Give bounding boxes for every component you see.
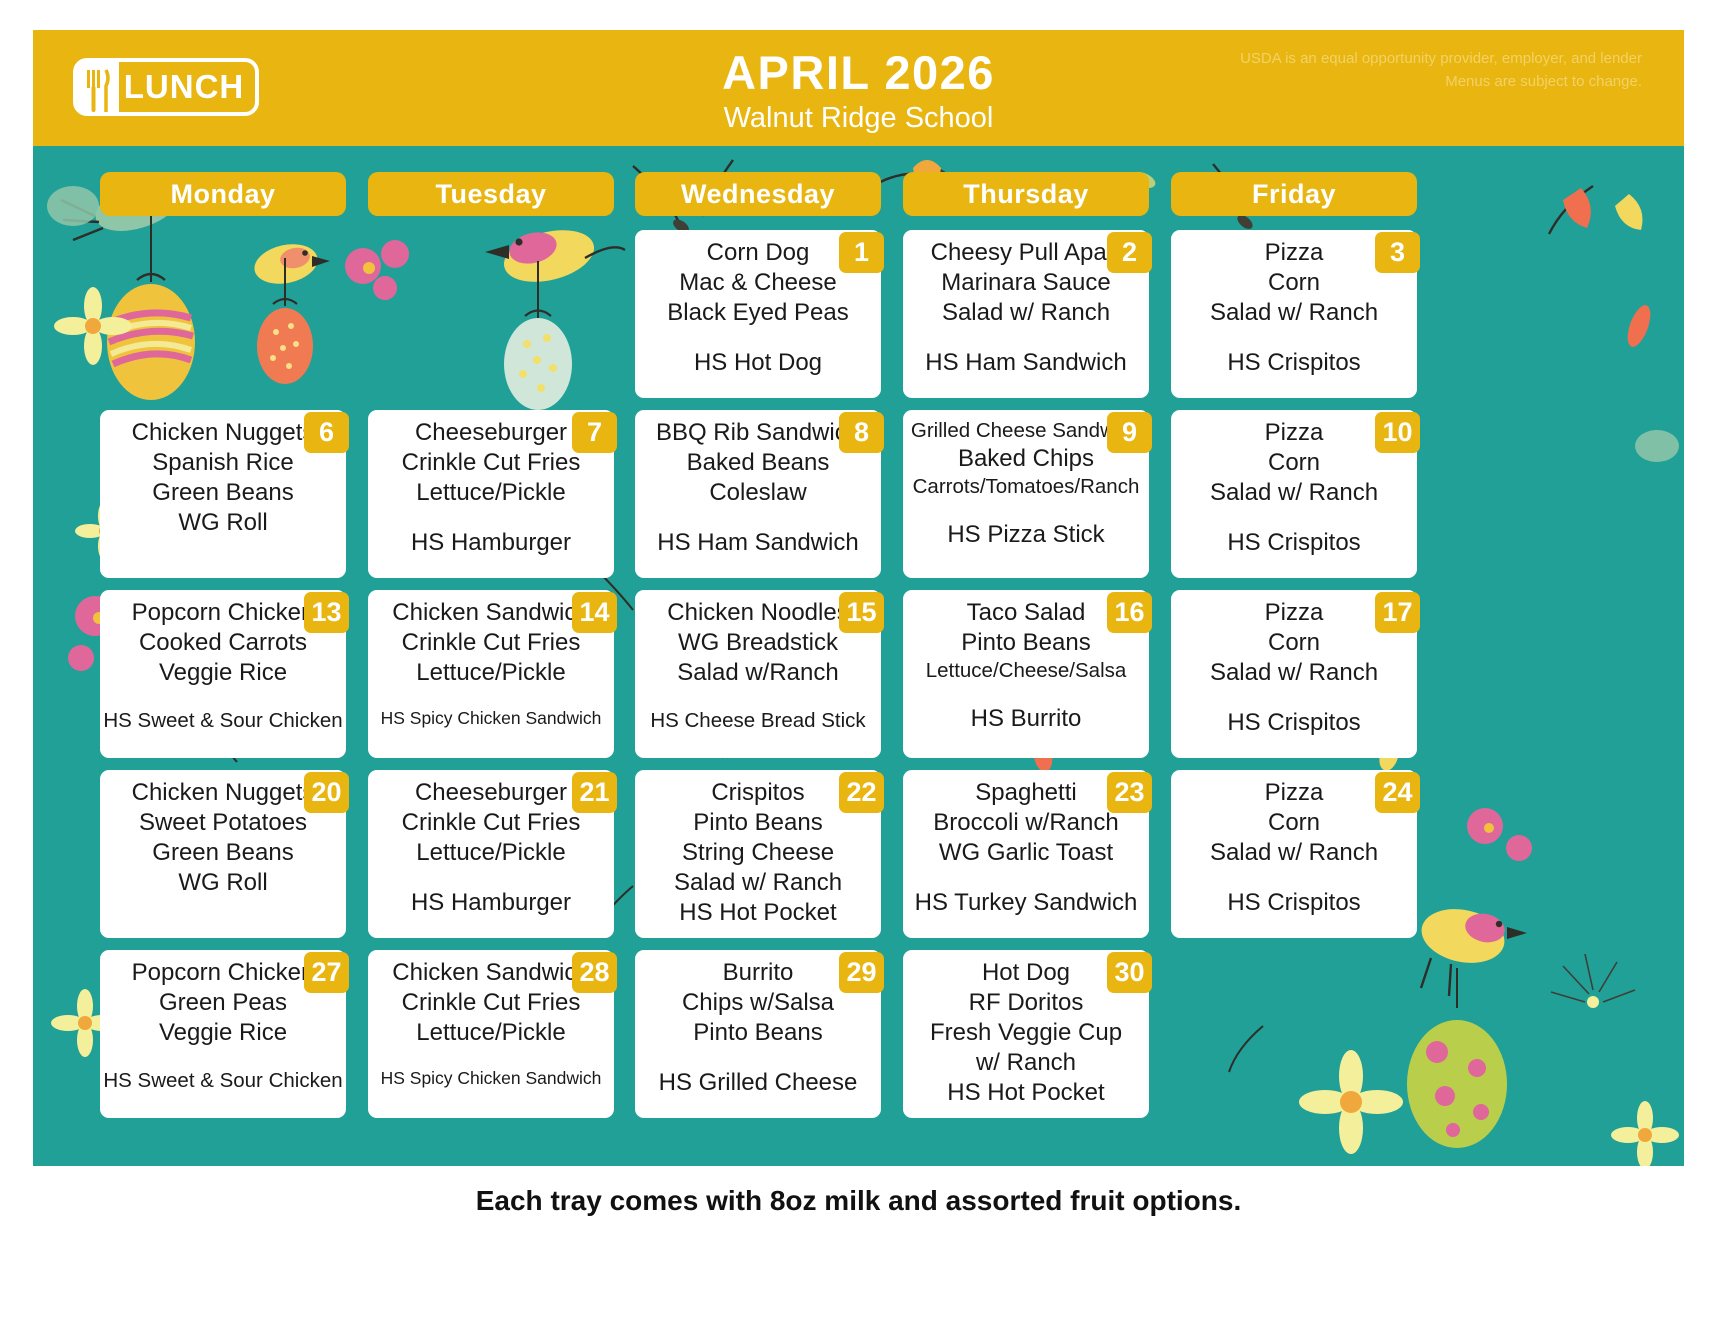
menu-item: Salad w/ Ranch <box>1157 298 1431 328</box>
menu-item: Lettuce/Cheese/Salsa <box>889 658 1163 684</box>
menu-spacer <box>889 500 1163 520</box>
menu-item: HS Sweet & Sour Chicken <box>86 708 360 734</box>
day-header-wednesday: Wednesday <box>635 172 881 216</box>
date-badge: 3 <box>1375 232 1420 273</box>
date-badge: 15 <box>839 592 884 633</box>
menu-item: HS Crispitos <box>1157 348 1431 378</box>
menu-item: Lettuce/Pickle <box>354 838 628 868</box>
menu-item: HS Crispitos <box>1157 888 1431 918</box>
menu-item: HS Spicy Chicken Sandwich <box>354 1068 628 1090</box>
menu-item: Salad w/ Ranch <box>1157 478 1431 508</box>
menu-item: HS Hamburger <box>354 888 628 918</box>
date-badge: 13 <box>304 592 349 633</box>
menu-item: HS Hot Pocket <box>621 898 895 928</box>
menu-item: String Cheese <box>621 838 895 868</box>
menu-spacer <box>86 1048 360 1068</box>
menu-item: HS Turkey Sandwich <box>889 888 1163 918</box>
calendar-grid: MondayTuesdayWednesdayThursdayFridayCorn… <box>33 146 1684 1166</box>
menu-item: Green Beans <box>86 478 360 508</box>
date-badge: 30 <box>1107 952 1152 993</box>
menu-item: Coleslaw <box>621 478 895 508</box>
usda-line-1: USDA is an equal opportunity provider, e… <box>1240 48 1642 71</box>
menu-item: HS Crispitos <box>1157 528 1431 558</box>
lunch-badge: LUNCH <box>73 58 259 116</box>
day-header-thursday: Thursday <box>903 172 1149 216</box>
page-header: LUNCH APRIL 2026 Walnut Ridge School USD… <box>33 30 1684 146</box>
menu-item: HS Crispitos <box>1157 708 1431 738</box>
menu-item: Carrots/Tomatoes/Ranch <box>889 474 1163 500</box>
menu-item: Salad w/ Ranch <box>1157 658 1431 688</box>
menu-item: WG Garlic Toast <box>889 838 1163 868</box>
menu-item: Pinto Beans <box>621 1018 895 1048</box>
lunch-menu-page: LUNCH APRIL 2026 Walnut Ridge School USD… <box>0 0 1717 1326</box>
menu-spacer <box>621 1048 895 1068</box>
menu-spacer <box>354 508 628 528</box>
menu-spacer <box>889 328 1163 348</box>
date-badge: 6 <box>304 412 349 453</box>
footer-note: Each tray comes with 8oz milk and assort… <box>0 1185 1717 1217</box>
date-badge: 22 <box>839 772 884 813</box>
menu-item: w/ Ranch <box>889 1048 1163 1078</box>
day-header-monday: Monday <box>100 172 346 216</box>
menu-spacer <box>354 688 628 708</box>
menu-item: HS Spicy Chicken Sandwich <box>354 708 628 730</box>
fork-knife-icon <box>77 62 119 112</box>
menu-item: Green Beans <box>86 838 360 868</box>
date-badge: 2 <box>1107 232 1152 273</box>
calendar-body: MondayTuesdayWednesdayThursdayFridayCorn… <box>33 146 1684 1166</box>
menu-item: Fresh Veggie Cup <box>889 1018 1163 1048</box>
day-header-friday: Friday <box>1171 172 1417 216</box>
menu-item: WG Roll <box>86 868 360 898</box>
menu-spacer <box>1157 688 1431 708</box>
menu-item: Lettuce/Pickle <box>354 1018 628 1048</box>
menu-item: Salad w/ Ranch <box>621 868 895 898</box>
menu-item: Salad w/ Ranch <box>889 298 1163 328</box>
menu-spacer <box>1157 868 1431 888</box>
menu-item: HS Burrito <box>889 704 1163 734</box>
menu-spacer <box>889 684 1163 704</box>
date-badge: 23 <box>1107 772 1152 813</box>
menu-spacer <box>354 1048 628 1068</box>
date-badge: 9 <box>1107 412 1152 453</box>
date-badge: 29 <box>839 952 884 993</box>
menu-item: HS Sweet & Sour Chicken <box>86 1068 360 1094</box>
menu-spacer <box>621 688 895 708</box>
menu-item: Black Eyed Peas <box>621 298 895 328</box>
date-badge: 27 <box>304 952 349 993</box>
date-badge: 21 <box>572 772 617 813</box>
date-badge: 14 <box>572 592 617 633</box>
date-badge: 16 <box>1107 592 1152 633</box>
menu-item: HS Pizza Stick <box>889 520 1163 550</box>
usda-disclaimer: USDA is an equal opportunity provider, e… <box>1240 48 1642 93</box>
page-subtitle: Walnut Ridge School <box>33 97 1684 141</box>
date-badge: 10 <box>1375 412 1420 453</box>
date-badge: 7 <box>572 412 617 453</box>
date-badge: 28 <box>572 952 617 993</box>
menu-item: Lettuce/Pickle <box>354 658 628 688</box>
menu-spacer <box>86 688 360 708</box>
menu-item: HS Hot Dog <box>621 348 895 378</box>
menu-item: Lettuce/Pickle <box>354 478 628 508</box>
menu-item: HS Hamburger <box>354 528 628 558</box>
menu-item: Veggie Rice <box>86 658 360 688</box>
menu-item: WG Roll <box>86 508 360 538</box>
menu-spacer <box>889 868 1163 888</box>
day-header-tuesday: Tuesday <box>368 172 614 216</box>
lunch-label: LUNCH <box>119 68 255 106</box>
date-badge: 20 <box>304 772 349 813</box>
usda-line-2: Menus are subject to change. <box>1240 71 1642 94</box>
date-badge: 24 <box>1375 772 1420 813</box>
menu-item: Salad w/Ranch <box>621 658 895 688</box>
menu-item: HS Cheese Bread Stick <box>621 708 895 734</box>
menu-spacer <box>354 868 628 888</box>
menu-item: HS Ham Sandwich <box>621 528 895 558</box>
menu-spacer <box>621 328 895 348</box>
date-badge: 17 <box>1375 592 1420 633</box>
menu-item: HS Grilled Cheese <box>621 1068 895 1098</box>
menu-spacer <box>1157 328 1431 348</box>
date-badge: 8 <box>839 412 884 453</box>
menu-item: Salad w/ Ranch <box>1157 838 1431 868</box>
menu-spacer <box>1157 508 1431 528</box>
menu-spacer <box>621 508 895 528</box>
date-badge: 1 <box>839 232 884 273</box>
menu-item: Veggie Rice <box>86 1018 360 1048</box>
menu-item: HS Hot Pocket <box>889 1078 1163 1108</box>
menu-item: HS Ham Sandwich <box>889 348 1163 378</box>
